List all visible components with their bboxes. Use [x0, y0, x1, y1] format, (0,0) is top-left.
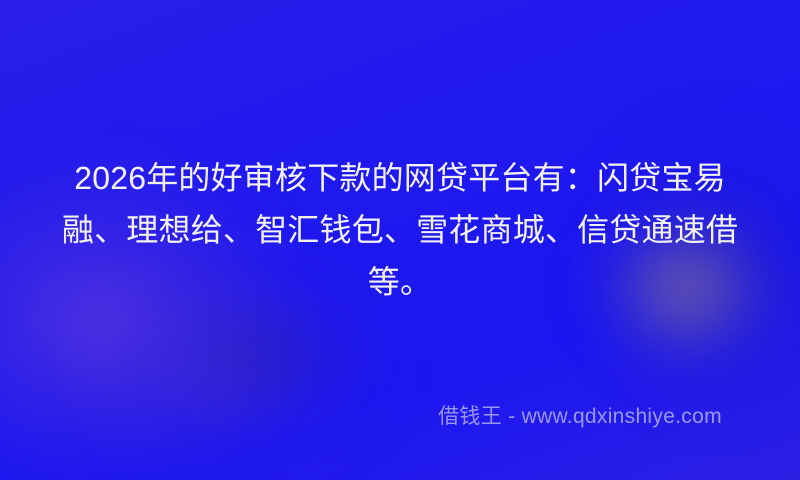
headline-text: 2026年的好审核下款的网贷平台有：闪贷宝易融、理想给、智汇钱包、雪花商城、信贷…	[50, 152, 750, 308]
watermark: 借钱王 - www.qdxinshiye.com	[430, 404, 730, 430]
image-canvas: 2026年的好审核下款的网贷平台有：闪贷宝易融、理想给、智汇钱包、雪花商城、信贷…	[0, 0, 800, 480]
dark-blue-glow-center	[150, 290, 370, 420]
